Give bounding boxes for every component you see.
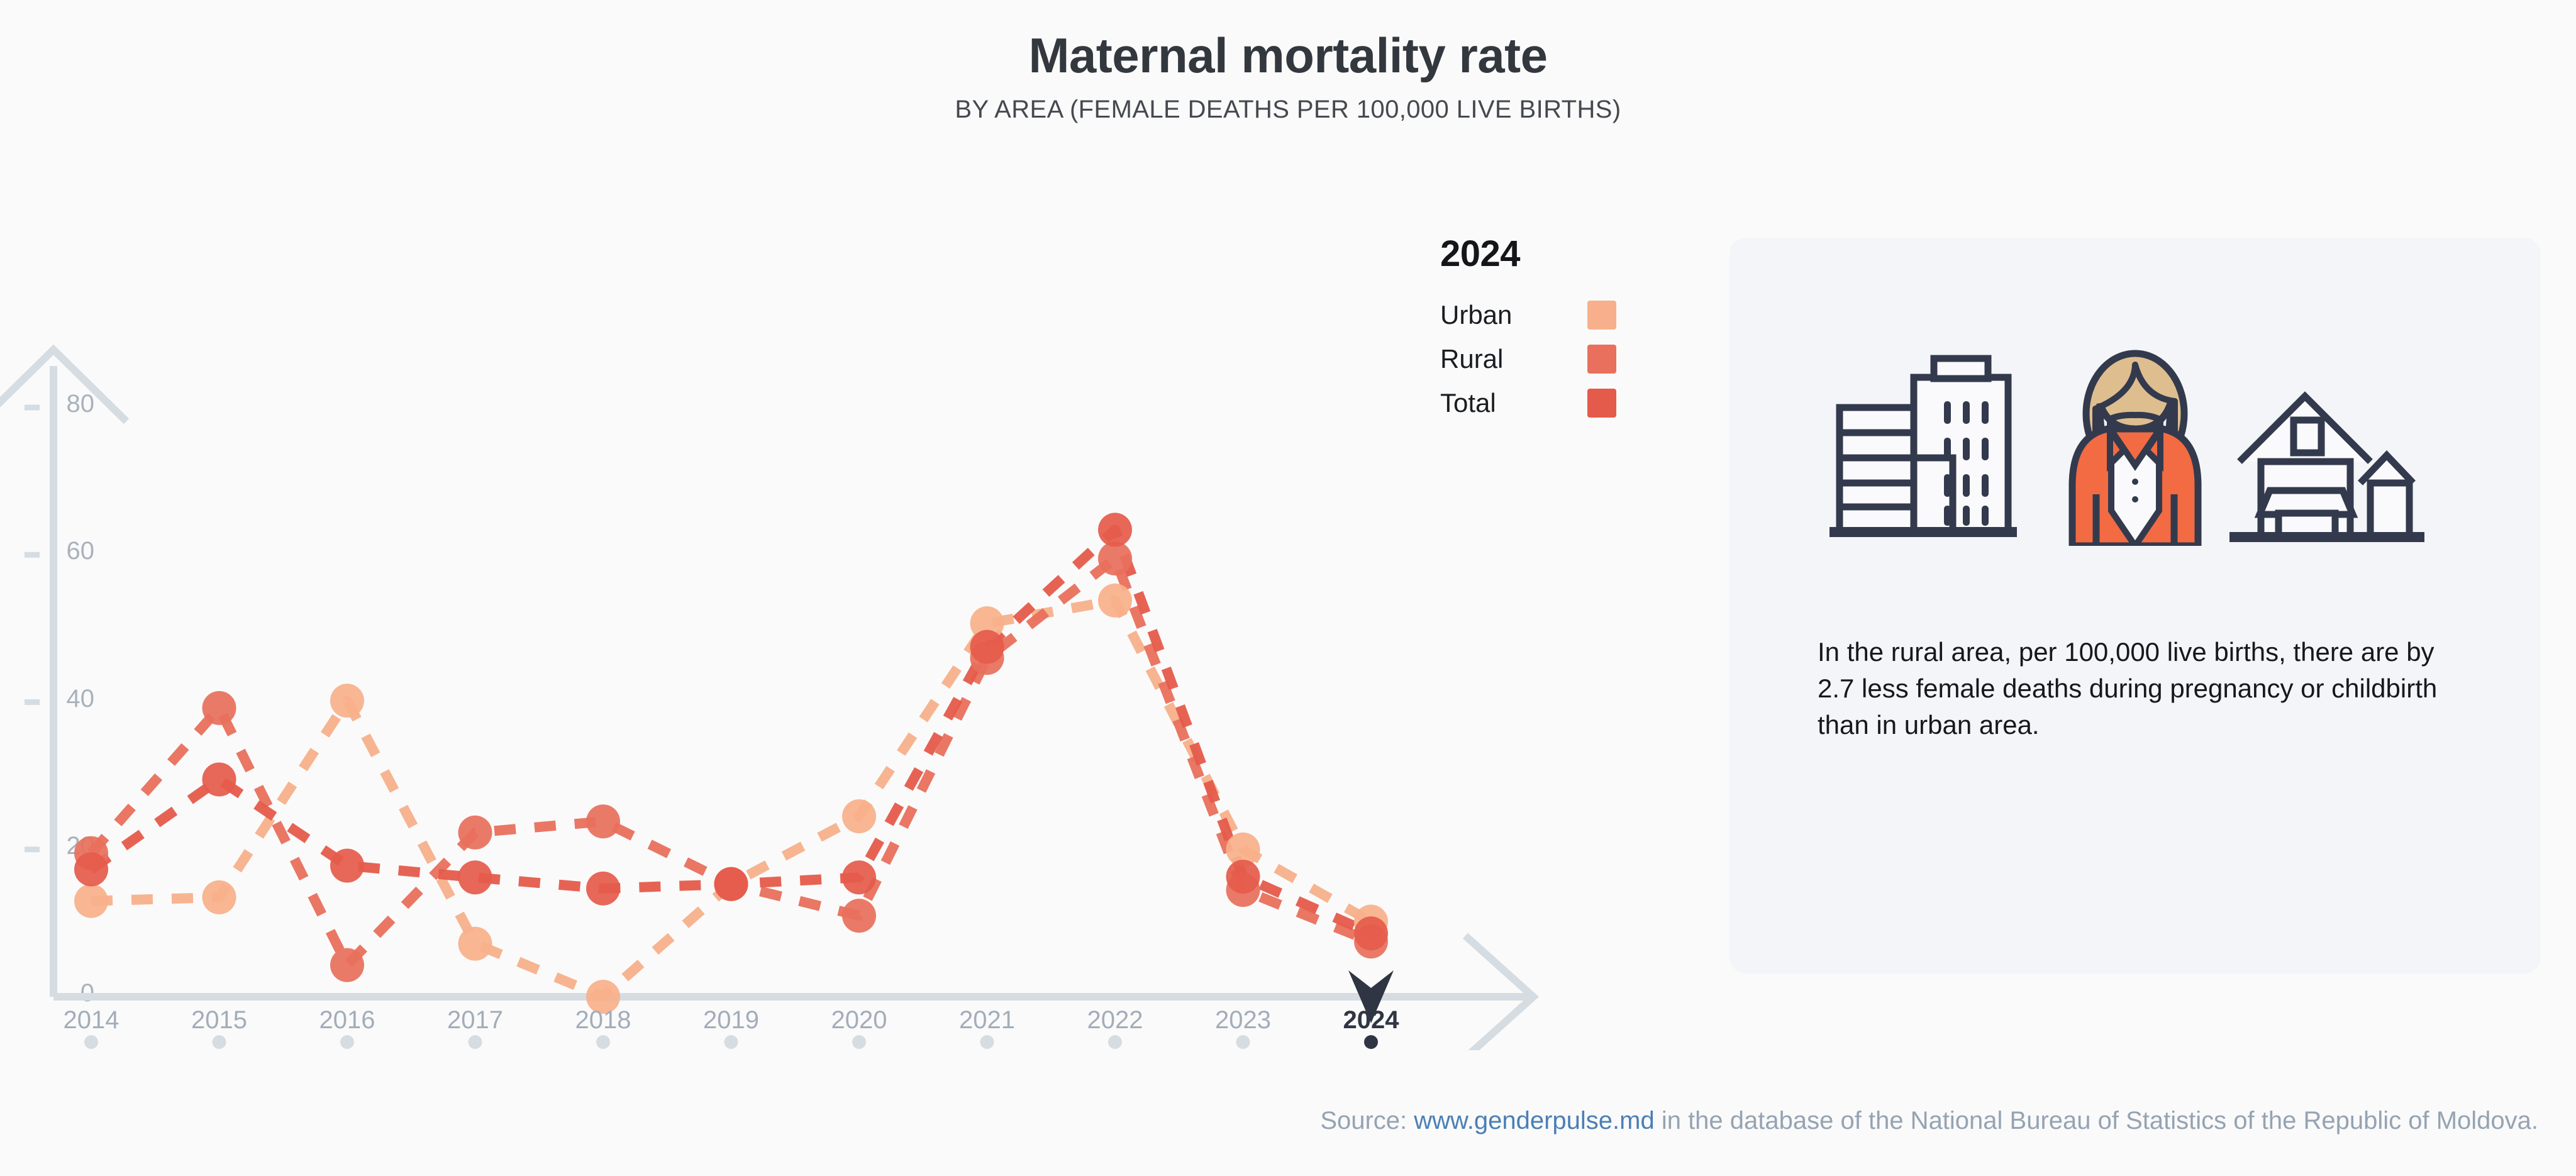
illustration-container <box>1729 338 2541 549</box>
series-markers-total <box>74 513 1388 950</box>
source-suffix: in the database of the National Bureau o… <box>1655 1107 2538 1134</box>
y-axis-arrow-icon <box>0 350 126 421</box>
x-tick-label-2014[interactable]: 2014 <box>64 1006 119 1035</box>
x-tick-label-2022[interactable]: 2022 <box>1087 1006 1143 1035</box>
data-point <box>330 849 364 883</box>
data-point <box>842 799 876 833</box>
data-point <box>842 899 876 933</box>
x-tick-label-2019[interactable]: 2019 <box>703 1006 759 1035</box>
x-tick-label-2015[interactable]: 2015 <box>191 1006 247 1035</box>
data-point <box>970 630 1004 664</box>
data-point <box>74 852 108 886</box>
x-tick-label-2017[interactable]: 2017 <box>447 1006 503 1035</box>
x-tick-label-2021[interactable]: 2021 <box>959 1006 1015 1035</box>
data-point <box>1098 584 1132 618</box>
data-point <box>842 860 876 894</box>
chart-legend: 2024 UrbanRuralTotal <box>1440 233 1692 432</box>
y-tick-marks <box>25 408 40 850</box>
series-markers-urban <box>74 584 1388 1014</box>
data-point <box>74 884 108 918</box>
plot-area <box>0 208 1648 1044</box>
source-link[interactable]: www.genderpulse.md <box>1414 1107 1654 1134</box>
legend-item-urban[interactable]: Urban <box>1440 300 1616 330</box>
data-point <box>330 684 364 718</box>
data-point <box>458 816 492 850</box>
chart-page: Maternal mortality rate BY AREA (FEMALE … <box>0 0 2576 1176</box>
x-tick-label-2024[interactable]: 2024 <box>1343 1006 1399 1035</box>
page-subtitle: BY AREA (FEMALE DEATHS PER 100,000 LIVE … <box>0 96 2576 124</box>
data-point <box>1226 860 1260 894</box>
legend-color-swatch <box>1587 301 1616 330</box>
info-panel-text: In the rural area, per 100,000 live birt… <box>1818 634 2453 743</box>
data-point <box>203 691 236 725</box>
chart-header: Maternal mortality rate BY AREA (FEMALE … <box>0 0 2576 124</box>
data-point <box>1354 916 1388 950</box>
line-chart-svg <box>0 208 1648 1050</box>
legend-item-label: Urban <box>1440 300 1512 330</box>
data-point <box>330 948 364 982</box>
data-point <box>586 804 620 838</box>
x-tick-label-2016[interactable]: 2016 <box>319 1006 375 1035</box>
legend-year: 2024 <box>1440 233 1692 275</box>
source-prefix: Source: <box>1320 1107 1414 1134</box>
legend-item-label: Rural <box>1440 344 1503 374</box>
data-point <box>714 867 748 901</box>
legend-item-total[interactable]: Total <box>1440 388 1616 418</box>
legend-color-swatch <box>1587 345 1616 374</box>
page-title: Maternal mortality rate <box>0 30 2576 82</box>
series-line-urban <box>91 601 1371 997</box>
source-footer: Source: www.genderpulse.md in the databa… <box>0 1107 2576 1135</box>
x-tick-label-2020[interactable]: 2020 <box>831 1006 887 1035</box>
x-axis-labels: 2014201520162017201820192020202120222023… <box>0 1006 1648 1057</box>
data-point <box>203 880 236 914</box>
info-panel: In the rural area, per 100,000 live birt… <box>1729 238 2541 974</box>
legend-color-swatch <box>1587 389 1616 418</box>
x-tick-label-2023[interactable]: 2023 <box>1215 1006 1271 1035</box>
legend-item-label: Total <box>1440 388 1496 418</box>
series-line-rural <box>91 558 1371 965</box>
x-tick-label-2018[interactable]: 2018 <box>575 1006 631 1035</box>
data-point <box>203 762 236 796</box>
legend-item-rural[interactable]: Rural <box>1440 344 1616 374</box>
data-point <box>458 860 492 894</box>
city-buildings-woman-house-icon <box>1821 338 2450 546</box>
data-point <box>1098 513 1132 546</box>
data-point <box>458 927 492 961</box>
data-point <box>586 872 620 906</box>
woman-figure <box>2072 353 2198 546</box>
